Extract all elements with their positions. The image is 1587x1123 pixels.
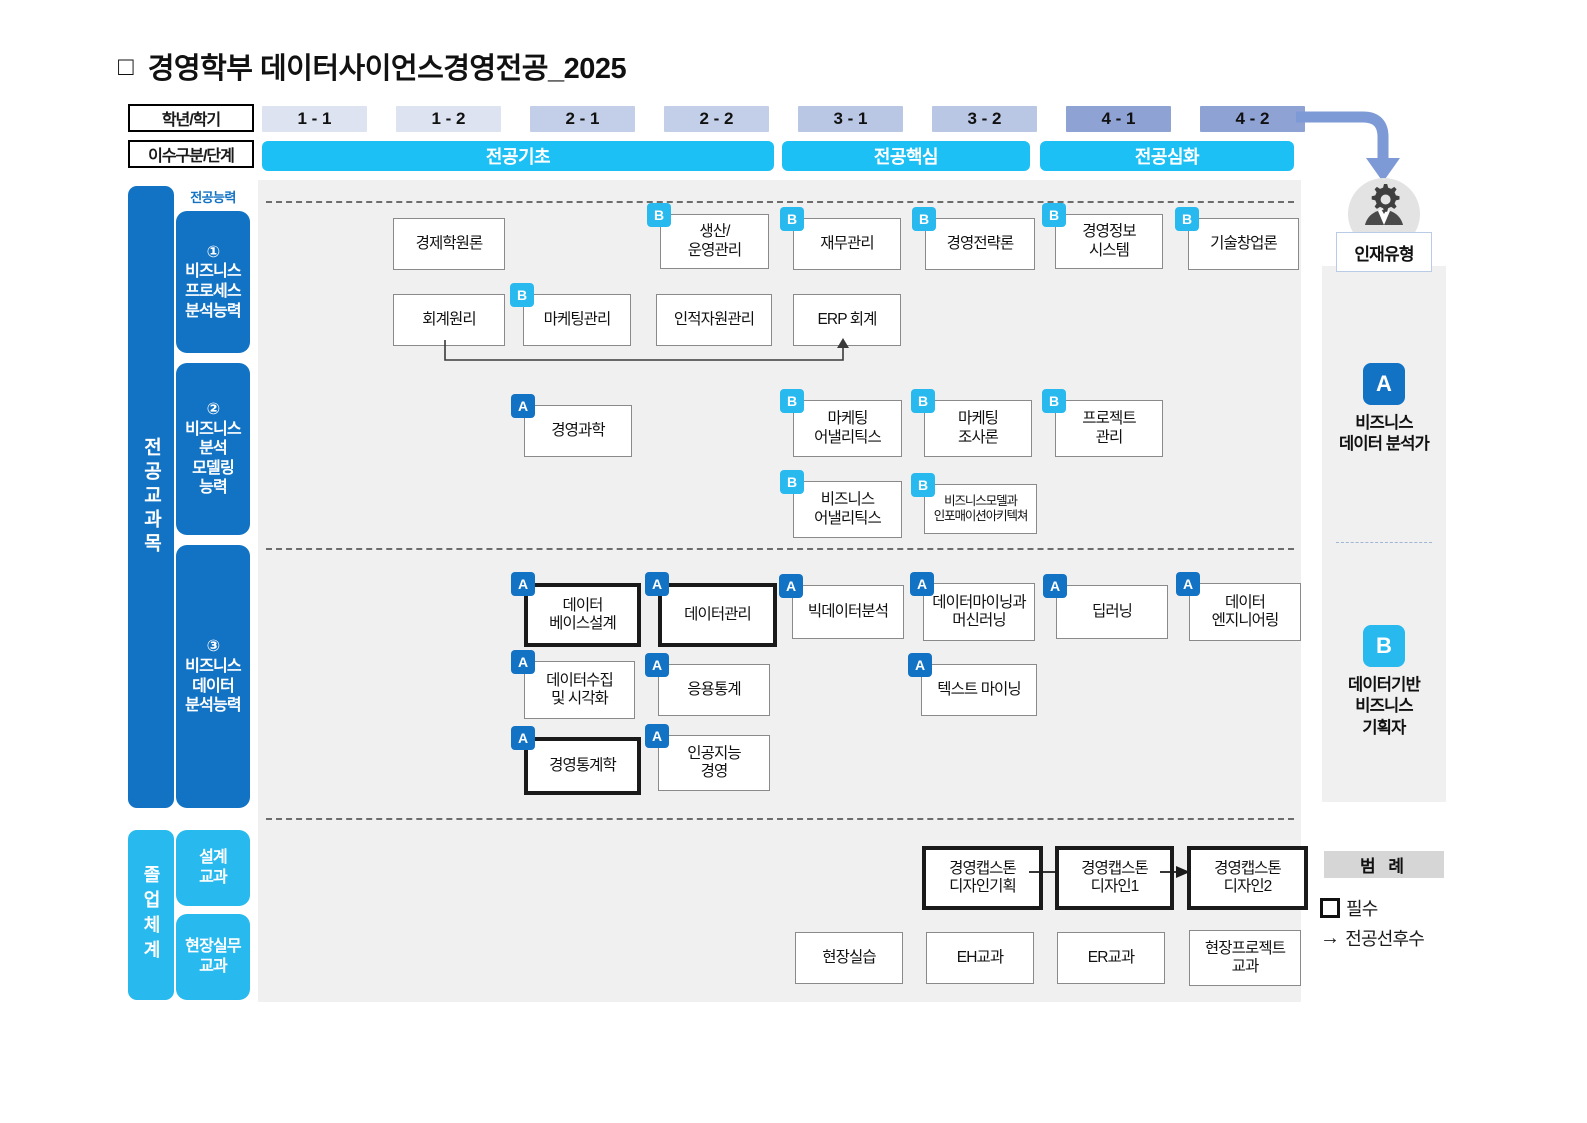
course-badge-b: B xyxy=(780,470,804,494)
course-name: 경영전략론 xyxy=(925,218,1035,270)
stage-label: 전공심화 xyxy=(1135,143,1199,169)
talent-divider xyxy=(1336,542,1432,543)
course-name: 데이터 엔지니어링 xyxy=(1189,583,1301,641)
talent-badge-a: A xyxy=(1363,363,1405,405)
capability-2-business-analysis-modeling[interactable]: ② 비즈니스 분석 모델링 능력 xyxy=(176,363,250,535)
course-name: 마케팅 조사론 xyxy=(924,400,1032,457)
stage-bar-1[interactable]: 전공핵심 xyxy=(782,141,1030,171)
course-box[interactable]: 데이터 베이스설계A xyxy=(524,583,627,635)
course-badge-a: A xyxy=(511,726,535,750)
course-name: 현장프로젝트 교과 xyxy=(1189,930,1301,986)
course-badge-b: B xyxy=(510,283,534,307)
course-name: 데이터마이닝과 머신러닝 xyxy=(923,583,1035,641)
page-title: □ 경영학부 데이터사이언스경영전공_2025 xyxy=(118,45,626,87)
course-box[interactable]: 경영정보 시스템B xyxy=(1055,214,1155,263)
title-bullet-icon: □ xyxy=(118,53,134,79)
title-text: 경영학부 데이터사이언스경영전공_2025 xyxy=(148,45,626,87)
course-name: 딥러닝 xyxy=(1056,585,1168,639)
stage-label: 전공핵심 xyxy=(874,143,938,169)
legend-label-prerequisite: 전공선후수 xyxy=(1345,925,1424,951)
course-name: 현장실습 xyxy=(795,932,903,984)
course-badge-b: B xyxy=(1042,203,1066,227)
course-box[interactable]: 인적자원관리 xyxy=(656,294,764,340)
course-badge-a: A xyxy=(1176,572,1200,596)
row-label-stage: 이수구분/단계 xyxy=(128,140,254,168)
capability-3-business-data-analysis[interactable]: ③ 비즈니스 데이터 분석능력 xyxy=(176,545,250,808)
divider-middle xyxy=(266,548,1294,550)
course-badge-b: B xyxy=(912,207,936,231)
row-label-year-semester: 학년/학기 xyxy=(128,104,254,132)
course-name: 경영통계학 xyxy=(524,737,641,795)
course-badge-a: A xyxy=(645,653,669,677)
rail-major-courses-label: 전공교과목 xyxy=(138,437,165,557)
course-box[interactable]: 프로젝트 관리B xyxy=(1055,400,1155,451)
semester-cell-3-2[interactable]: 3 - 2 xyxy=(932,106,1037,132)
course-name: 데이터관리 xyxy=(658,583,777,647)
course-box[interactable]: 경영전략론B xyxy=(925,218,1027,264)
course-box[interactable]: 생산/ 운영관리B xyxy=(660,214,761,263)
course-name: EH교과 xyxy=(926,932,1034,984)
course-box[interactable]: 데이터관리A xyxy=(658,583,763,635)
course-badge-b: B xyxy=(647,203,671,227)
semester-label: 2 - 1 xyxy=(565,109,599,129)
course-box[interactable]: 데이터수집 및 시각화A xyxy=(524,661,627,713)
course-box[interactable]: 경영통계학A xyxy=(524,737,627,783)
course-box[interactable]: 경제학원론 xyxy=(393,218,497,264)
legend-label-required: 필수 xyxy=(1346,895,1378,921)
course-name: 텍스트 마이닝 xyxy=(921,664,1037,716)
talent-type-b[interactable]: B 데이터기반 비즈니스 기획자 xyxy=(1322,625,1446,739)
semester-label: 1 - 2 xyxy=(431,109,465,129)
course-name: 프로젝트 관리 xyxy=(1055,400,1163,457)
semester-label: 4 - 2 xyxy=(1235,109,1269,129)
course-name: 생산/ 운영관리 xyxy=(660,214,769,269)
course-box[interactable]: 데이터마이닝과 머신러닝A xyxy=(923,583,1027,635)
course-box[interactable]: ERP 회계 xyxy=(793,294,893,340)
course-box[interactable]: 경영캡스톤 디자인기획 xyxy=(922,846,1029,898)
talent-type-header: 인재유형 xyxy=(1336,232,1432,272)
course-box[interactable]: 마케팅 어낼리틱스B xyxy=(793,400,894,451)
legend-title: 범 례 xyxy=(1324,851,1444,878)
course-name: 데이터 베이스설계 xyxy=(524,583,641,647)
semester-cell-2-2[interactable]: 2 - 2 xyxy=(664,106,769,132)
course-badge-b: B xyxy=(1175,207,1199,231)
rail-graduation-system-label: 졸업체계 xyxy=(138,865,164,965)
semester-cell-4-1[interactable]: 4 - 1 xyxy=(1066,106,1171,132)
course-badge-b: B xyxy=(911,389,935,413)
course-box[interactable]: 비즈니스 어낼리틱스B xyxy=(793,481,894,532)
course-name: 인공지능 경영 xyxy=(658,735,770,791)
course-name: 응용통계 xyxy=(658,664,770,716)
course-name: 빅데이터분석 xyxy=(792,585,904,639)
course-name: 기술창업론 xyxy=(1188,218,1299,270)
course-box[interactable]: 마케팅 조사론B xyxy=(924,400,1024,451)
course-box[interactable]: EH교과 xyxy=(926,932,1026,978)
legend-item-required: 필수 xyxy=(1320,895,1378,921)
course-name: 재무관리 xyxy=(793,218,901,270)
semester-cell-3-1[interactable]: 3 - 1 xyxy=(798,106,903,132)
course-badge-b: B xyxy=(780,207,804,231)
semester-cell-1-1[interactable]: 1 - 1 xyxy=(262,106,367,132)
course-box[interactable]: 텍스트 마이닝A xyxy=(921,664,1029,710)
semester-label: 3 - 2 xyxy=(967,109,1001,129)
course-name: 마케팅관리 xyxy=(523,294,631,346)
course-box[interactable]: 딥러닝A xyxy=(1056,585,1160,633)
stage-label: 전공기초 xyxy=(486,143,550,169)
semester-label: 1 - 1 xyxy=(297,109,331,129)
square-outline-icon xyxy=(1320,898,1340,918)
course-box[interactable]: 현장프로젝트 교과 xyxy=(1189,930,1293,980)
capability-design-subject[interactable]: 설계 교과 xyxy=(176,830,250,906)
course-box[interactable]: 경영과학A xyxy=(524,405,624,451)
course-name: 경영과학 xyxy=(524,405,632,457)
course-badge-a: A xyxy=(779,574,803,598)
course-name: 경제학원론 xyxy=(393,218,505,270)
course-box[interactable]: 재무관리B xyxy=(793,218,893,264)
talent-badge-b: B xyxy=(1363,625,1405,667)
talent-type-a[interactable]: A 비즈니스 데이터 분석가 xyxy=(1322,363,1446,456)
course-badge-b: B xyxy=(780,389,804,413)
course-name: 데이터수집 및 시각화 xyxy=(524,661,635,719)
rail-graduation-system: 졸업체계 xyxy=(128,830,174,1000)
stage-bar-2[interactable]: 전공심화 xyxy=(1040,141,1294,171)
course-badge-b: B xyxy=(911,473,935,497)
course-box[interactable]: 현장실습 xyxy=(795,932,895,978)
course-box[interactable]: 경영캡스톤 디자인1 xyxy=(1055,846,1160,898)
course-badge-a: A xyxy=(1043,574,1067,598)
course-name: 경영캡스톤 디자인기획 xyxy=(922,846,1043,910)
course-name: 인적자원관리 xyxy=(656,294,772,346)
course-box[interactable]: 기술창업론B xyxy=(1188,218,1291,264)
talent-name-a: 비즈니스 데이터 분석가 xyxy=(1339,413,1429,456)
course-name: 비즈니스모델과 인포매이션아키텍쳐 xyxy=(924,484,1037,534)
course-badge-b: B xyxy=(1042,389,1066,413)
divider-top xyxy=(266,201,1294,203)
divider-bottom xyxy=(266,818,1294,820)
competency-header-label: 전공능력 xyxy=(174,186,252,206)
course-badge-a: A xyxy=(910,572,934,596)
course-box[interactable]: 마케팅관리B xyxy=(523,294,623,340)
course-name: 비즈니스 어낼리틱스 xyxy=(793,481,902,538)
course-box[interactable]: 경영캡스톤 디자인2 xyxy=(1187,846,1294,898)
course-badge-a: A xyxy=(511,394,535,418)
course-name: ER교과 xyxy=(1057,932,1165,984)
stage-bar-0[interactable]: 전공기초 xyxy=(262,141,774,171)
course-box[interactable]: ER교과 xyxy=(1057,932,1157,978)
course-name: 경영캡스톤 디자인2 xyxy=(1187,846,1308,910)
arrow-right-icon: → xyxy=(1320,928,1339,948)
semester-cell-2-1[interactable]: 2 - 1 xyxy=(530,106,635,132)
talent-name-b: 데이터기반 비즈니스 기획자 xyxy=(1348,675,1420,739)
semester-cell-1-2[interactable]: 1 - 2 xyxy=(396,106,501,132)
capability-field-practice-subject[interactable]: 현장실무 교과 xyxy=(176,914,250,1000)
course-badge-a: A xyxy=(511,650,535,674)
course-name: 회계원리 xyxy=(393,294,505,346)
course-badge-a: A xyxy=(645,572,669,596)
course-name: 마케팅 어낼리틱스 xyxy=(793,400,902,457)
semester-label: 3 - 1 xyxy=(833,109,867,129)
course-box[interactable]: 회계원리 xyxy=(393,294,497,340)
course-box[interactable]: 빅데이터분석A xyxy=(792,585,896,633)
course-badge-a: A xyxy=(908,653,932,677)
capability-1-business-process[interactable]: ① 비즈니스 프로세스 분석능력 xyxy=(176,211,250,353)
course-box[interactable]: 응용통계A xyxy=(658,664,762,710)
semester-label: 2 - 2 xyxy=(699,109,733,129)
rail-major-courses: 전공교과목 xyxy=(128,186,174,808)
course-name: ERP 회계 xyxy=(793,294,901,346)
semester-cell-4-2[interactable]: 4 - 2 xyxy=(1200,106,1305,132)
semester-label: 4 - 1 xyxy=(1101,109,1135,129)
course-badge-a: A xyxy=(645,724,669,748)
course-badge-a: A xyxy=(511,572,535,596)
course-box[interactable]: 데이터 엔지니어링A xyxy=(1189,583,1293,635)
course-name: 경영캡스톤 디자인1 xyxy=(1055,846,1174,910)
course-box[interactable]: 인공지능 경영A xyxy=(658,735,762,785)
course-box[interactable]: 비즈니스모델과 인포매이션아키텍쳐B xyxy=(924,484,1029,528)
legend-item-prerequisite: → 전공선후수 xyxy=(1320,925,1424,951)
course-name: 경영정보 시스템 xyxy=(1055,214,1163,269)
